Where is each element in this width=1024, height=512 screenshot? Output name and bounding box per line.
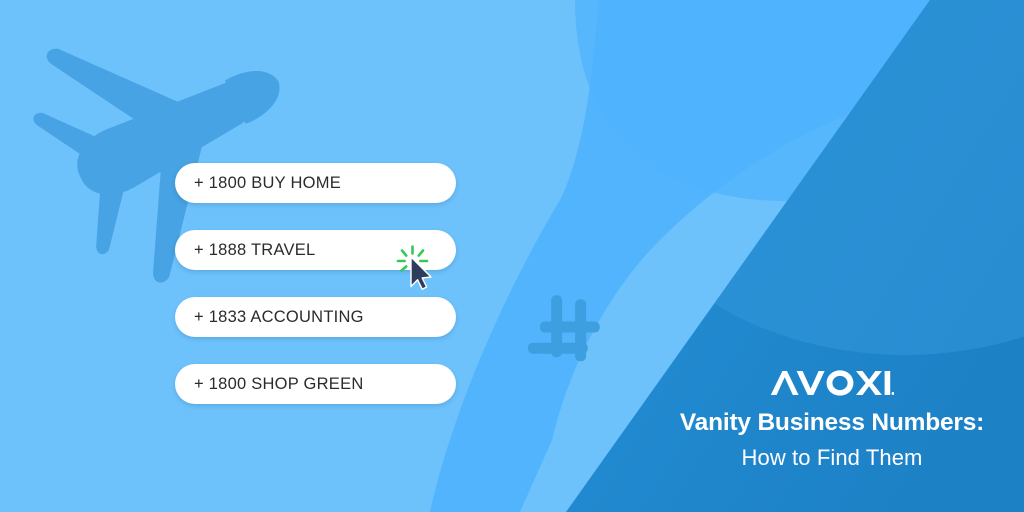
pill-accounting[interactable]: + 1833 ACCOUNTING bbox=[175, 297, 456, 337]
pill-label: + 1888 TRAVEL bbox=[175, 241, 315, 260]
banner-root: + 1800 BUY HOME + 1888 TRAVEL + 1833 ACC… bbox=[0, 0, 1024, 512]
brand-block: Vanity Business Numbers: How to Find The… bbox=[640, 370, 1024, 470]
pill-label: + 1833 ACCOUNTING bbox=[175, 308, 364, 327]
pill-buy-home[interactable]: + 1800 BUY HOME bbox=[175, 163, 456, 203]
mouse-cursor-icon[interactable] bbox=[392, 243, 442, 291]
page-subtitle: How to Find Them bbox=[640, 446, 1024, 470]
pill-label: + 1800 BUY HOME bbox=[175, 174, 341, 193]
avoxi-logo bbox=[770, 370, 894, 396]
pill-label: + 1800 SHOP GREEN bbox=[175, 375, 363, 394]
page-title: Vanity Business Numbers: bbox=[640, 410, 1024, 437]
pill-shop-green[interactable]: + 1800 SHOP GREEN bbox=[175, 364, 456, 404]
